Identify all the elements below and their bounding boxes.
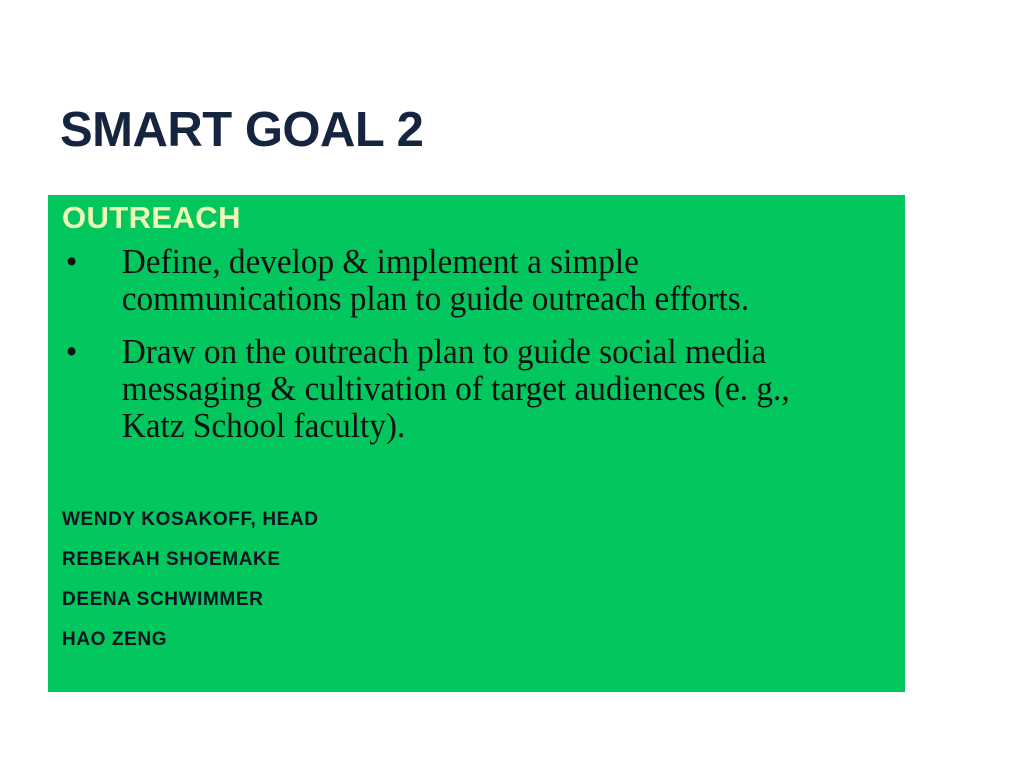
list-item: • Define, develop & implement a simple c… [60,243,839,317]
bullet-list: • Define, develop & implement a simple c… [60,243,880,460]
list-item: DEENA SCHWIMMER [62,590,762,609]
list-item: • Draw on the outreach plan to guide soc… [60,333,839,444]
page-title: SMART GOAL 2 [60,106,423,155]
list-item: REBEKAH SHOEMAKE [62,550,762,569]
bullet-text: Define, develop & implement a simple com… [122,243,839,317]
list-item: HAO ZENG [62,630,762,649]
bullet-point-icon: • [66,333,78,370]
list-item: WENDY KOSAKOFF, HEAD [62,510,762,529]
content-panel: OUTREACH • Define, develop & implement a… [48,195,905,692]
bullet-text: Draw on the outreach plan to guide socia… [122,333,839,444]
bullet-point-icon: • [66,243,78,280]
team-member-list: WENDY KOSAKOFF, HEAD REBEKAH SHOEMAKE DE… [62,510,762,649]
presentation-slide: SMART GOAL 2 OUTREACH • Define, develop … [0,0,1024,768]
panel-heading: OUTREACH [62,202,241,233]
